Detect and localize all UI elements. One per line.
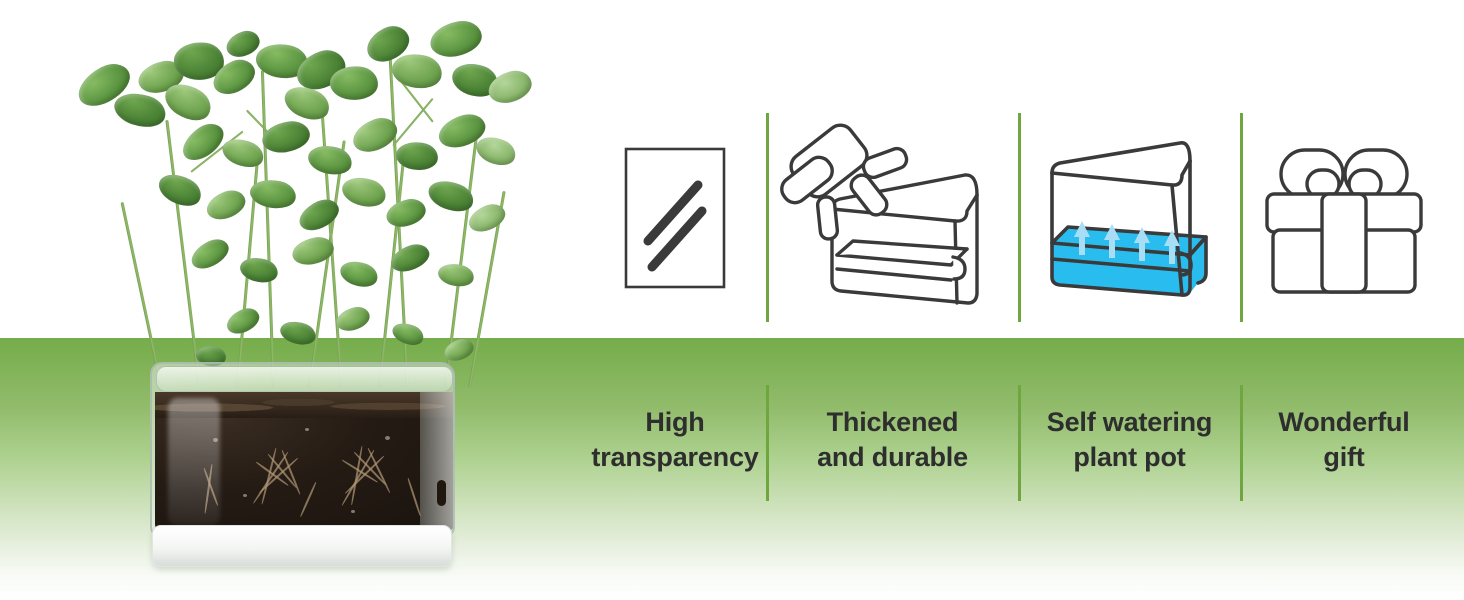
feature-label-cell-self-watering-plant-pot: Self watering plant pot [1022,405,1237,485]
feature-label-self-watering-plant-pot: Self watering plant pot [1047,405,1212,474]
feature-icon-self-watering-plant-pot [1022,118,1237,318]
feature-label-thickened-and-durable: Thickened and durable [817,405,968,474]
feature-label-wonderful-gift: Wonderful gift [1278,405,1409,474]
product-feature-banner: High transparency Thickened and durable … [0,0,1464,600]
hammer-strike-pot-icon [775,123,1010,313]
glass-pane-icon [620,143,730,293]
feature-label-cell-high-transparency: High transparency [585,405,765,485]
feature-icon-wonderful-gift [1244,118,1444,318]
divider-top-3 [1240,113,1243,322]
divider-top-2 [1018,113,1021,322]
feature-label-cell-thickened-and-durable: Thickened and durable [770,405,1015,485]
divider-bottom-3 [1240,385,1243,501]
feature-icon-thickened-and-durable [770,118,1015,318]
divider-bottom-2 [1018,385,1021,501]
feature-label-cell-wonderful-gift: Wonderful gift [1244,405,1444,485]
divider-top-1 [766,113,769,322]
gift-box-icon [1259,136,1429,301]
water-reservoir-pot-icon [1030,131,1230,306]
divider-bottom-1 [766,385,769,501]
feature-list: High transparency Thickened and durable … [0,0,1464,600]
feature-label-high-transparency: High transparency [591,405,758,474]
feature-icon-high-transparency [585,118,765,318]
